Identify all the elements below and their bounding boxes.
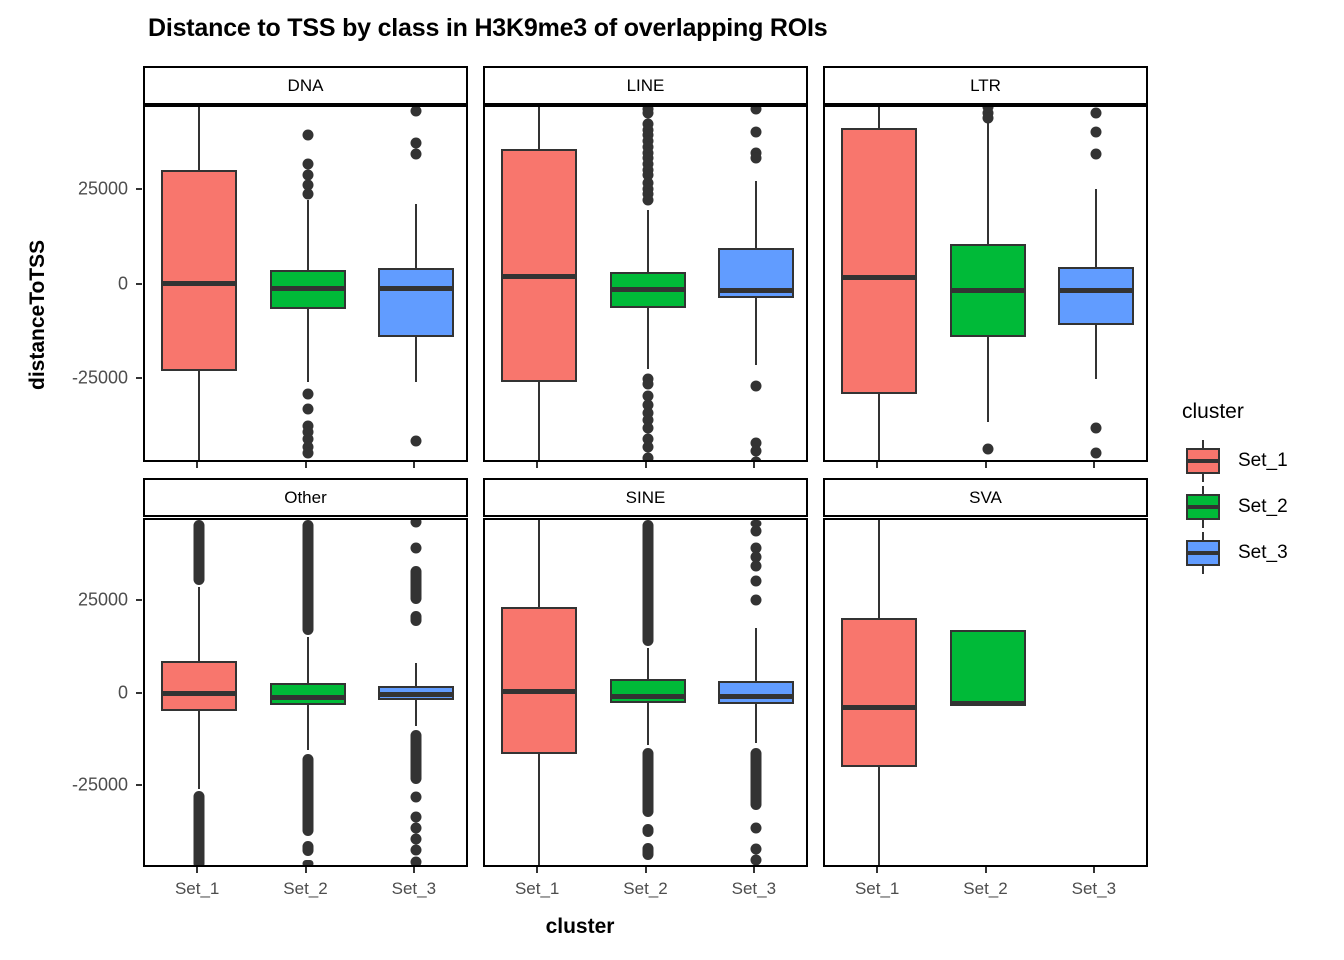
x-axis-tick-label: Set_1 (515, 879, 559, 899)
boxplot-box (161, 661, 237, 711)
x-axis-tick-mark (876, 867, 878, 873)
outlier-point (410, 834, 421, 845)
median-line (1058, 288, 1134, 293)
y-axis-tick-mark (136, 188, 142, 190)
whisker-upper (647, 210, 649, 272)
outlier-point (982, 443, 993, 454)
facet-strip-ltr: LTR (823, 66, 1148, 105)
outlier-cluster (642, 843, 653, 860)
y-axis-tick-label: -25000 (28, 775, 128, 796)
boxplot-box (718, 681, 794, 704)
whisker-upper (307, 200, 309, 270)
outlier-point (410, 845, 421, 856)
outlier-point (1090, 126, 1101, 137)
x-axis-tick-mark (753, 867, 755, 873)
y-axis-tick-label: 0 (28, 682, 128, 703)
legend: cluster Set_1Set_2Set_3 (1182, 400, 1288, 576)
whisker-lower (755, 704, 757, 743)
outlier-point (750, 576, 761, 587)
legend-rows: Set_1Set_2Set_3 (1182, 438, 1288, 576)
x-axis-tick-mark (753, 462, 755, 468)
median-line (841, 275, 917, 280)
outlier-cluster (302, 841, 313, 856)
x-axis-tick-mark (536, 867, 538, 873)
y-axis-tick-label: 25000 (28, 178, 128, 199)
y-axis-tick-mark (136, 784, 142, 786)
x-axis-tick-mark (305, 867, 307, 873)
outlier-point (1090, 107, 1101, 118)
outlier-point (410, 149, 421, 160)
x-axis-tick-mark (985, 867, 987, 873)
boxplot-box (610, 679, 686, 703)
outlier-cluster (410, 611, 421, 626)
facet-strip-label: SINE (626, 488, 666, 508)
median-line (270, 695, 346, 700)
x-axis-title: cluster (0, 915, 1160, 939)
outlier-point (1090, 422, 1101, 433)
y-axis-tick-label: 25000 (28, 589, 128, 610)
whisker-upper (538, 520, 540, 607)
median-line (950, 288, 1026, 293)
legend-key-median (1186, 505, 1220, 509)
x-axis-tick-mark (305, 462, 307, 468)
whisker-upper (198, 587, 200, 661)
outlier-point (302, 388, 313, 399)
facet-strip-dna: DNA (143, 66, 468, 105)
whisker-lower (415, 700, 417, 726)
outlier-point (750, 823, 761, 834)
median-line (270, 286, 346, 291)
outlier-point (750, 526, 761, 537)
boxplot-box (841, 128, 917, 394)
outlier-point (410, 542, 421, 553)
x-axis-tick-mark (196, 462, 198, 468)
outlier-point (1090, 447, 1101, 458)
boxplot-box (501, 607, 577, 754)
outlier-point (410, 436, 421, 447)
outlier-point (302, 189, 313, 200)
legend-item-set_2[interactable]: Set_2 (1182, 484, 1288, 530)
legend-key-swatch (1182, 438, 1224, 484)
whisker-lower (755, 298, 757, 365)
whisker-lower (647, 308, 649, 370)
whisker-upper (1095, 189, 1097, 268)
x-axis-tick-mark (1093, 867, 1095, 873)
outlier-point (642, 107, 653, 118)
facet-panel-sine (483, 518, 808, 867)
median-line (161, 281, 237, 286)
outlier-point (750, 561, 761, 572)
facet-strip-label: SVA (969, 488, 1002, 508)
x-axis-tick-label: Set_2 (963, 879, 1007, 899)
y-axis-tick-label: -25000 (28, 368, 128, 389)
legend-item-set_3[interactable]: Set_3 (1182, 530, 1288, 576)
outlier-point (750, 854, 761, 865)
x-axis-tick-mark (645, 462, 647, 468)
boxplot-box (950, 630, 1026, 705)
facet-strip-line: LINE (483, 66, 808, 105)
x-axis-tick-label: Set_2 (283, 879, 327, 899)
x-axis-tick-mark (413, 462, 415, 468)
outlier-cluster (642, 520, 653, 646)
facet-strip-label: LINE (627, 76, 665, 96)
outlier-point (302, 130, 313, 141)
outlier-cluster (642, 824, 653, 837)
outlier-point (410, 823, 421, 834)
outlier-cluster (410, 730, 421, 784)
legend-key-median (1186, 459, 1220, 463)
outlier-point (410, 138, 421, 149)
median-line (378, 286, 454, 291)
y-axis-tick-label: 0 (28, 273, 128, 294)
whisker-lower (538, 382, 540, 462)
outlier-point (410, 791, 421, 802)
boxplot-box (378, 268, 454, 336)
median-line (378, 692, 454, 697)
y-axis-tick-mark (136, 599, 142, 601)
outlier-point (750, 105, 761, 114)
x-axis-tick-mark (876, 462, 878, 468)
x-axis-tick-mark (196, 867, 198, 873)
boxplot-box (841, 618, 917, 767)
whisker-upper (647, 648, 649, 679)
x-axis-tick-mark (985, 462, 987, 468)
whisker-lower (878, 394, 880, 462)
whisker-upper (415, 204, 417, 269)
median-line (718, 694, 794, 699)
facet-strip-label: Other (284, 488, 327, 508)
median-line (501, 689, 577, 694)
outlier-point (302, 403, 313, 414)
x-axis-tick-mark (413, 867, 415, 873)
whisker-upper (878, 520, 880, 618)
median-line (950, 701, 1026, 706)
median-line (841, 705, 917, 710)
outlier-point (410, 856, 421, 867)
facet-strip-label: DNA (288, 76, 324, 96)
whisker-upper (538, 107, 540, 149)
legend-key-median (1186, 551, 1220, 555)
median-line (501, 274, 577, 279)
median-line (610, 287, 686, 292)
whisker-lower (198, 371, 200, 462)
boxplot-box (1058, 267, 1134, 325)
facet-panel-line (483, 105, 808, 462)
x-axis-tick-label: Set_1 (855, 879, 899, 899)
outlier-point (642, 195, 653, 206)
x-axis-tick-label: Set_1 (175, 879, 219, 899)
median-line (610, 694, 686, 699)
outlier-point (410, 105, 421, 116)
outlier-point (750, 153, 761, 164)
x-axis-tick-mark (645, 867, 647, 873)
median-line (161, 691, 237, 696)
outlier-cluster (410, 566, 421, 603)
outlier-point (642, 441, 653, 452)
median-line (718, 288, 794, 293)
facet-strip-other: Other (143, 478, 468, 517)
outlier-cluster (302, 860, 313, 867)
legend-item-set_1[interactable]: Set_1 (1182, 438, 1288, 484)
outlier-cluster (642, 748, 653, 817)
y-axis-tick-mark (136, 692, 142, 694)
whisker-lower (987, 337, 989, 422)
outlier-point (982, 113, 993, 124)
x-axis-tick-label: Set_3 (1072, 879, 1116, 899)
y-axis-tick-mark (136, 283, 142, 285)
facet-panel-dna (143, 105, 468, 462)
boxplot-box (501, 149, 577, 383)
outlier-point (642, 422, 653, 433)
outlier-point (1090, 149, 1101, 160)
outlier-point (750, 457, 761, 462)
whisker-lower (198, 711, 200, 789)
whisker-lower (647, 703, 649, 745)
facet-strip-sine: SINE (483, 478, 808, 517)
outlier-point (750, 445, 761, 456)
outlier-point (750, 381, 761, 392)
whisker-lower (1095, 325, 1097, 378)
outlier-cluster (302, 754, 313, 836)
whisker-upper (755, 628, 757, 681)
x-axis-tick-label: Set_3 (732, 879, 776, 899)
whisker-upper (198, 107, 200, 170)
whisker-lower (415, 337, 417, 383)
x-axis-tick-mark (1093, 462, 1095, 468)
boxplot-box (161, 170, 237, 371)
facet-strip-sva: SVA (823, 478, 1148, 517)
legend-label: Set_2 (1238, 496, 1288, 518)
outlier-cluster (194, 520, 205, 585)
whisker-upper (755, 181, 757, 248)
outlier-point (750, 843, 761, 854)
whisker-upper (878, 107, 880, 128)
chart-root: Distance to TSS by class in H3K9me3 of o… (0, 0, 1344, 960)
outlier-cluster (302, 520, 313, 635)
legend-label: Set_1 (1238, 450, 1288, 472)
facet-panel-ltr (823, 105, 1148, 462)
page-title: Distance to TSS by class in H3K9me3 of o… (148, 14, 827, 43)
whisker-upper (987, 116, 989, 244)
y-axis-tick-mark (136, 377, 142, 379)
whisker-upper (415, 663, 417, 686)
outlier-point (302, 158, 313, 169)
outlier-point (750, 594, 761, 605)
outlier-point (750, 126, 761, 137)
outlier-cluster (750, 748, 761, 809)
whisker-lower (307, 309, 309, 382)
legend-key-swatch (1182, 484, 1224, 530)
x-axis-tick-label: Set_2 (623, 879, 667, 899)
whisker-lower (307, 705, 309, 750)
facet-panel-other (143, 518, 468, 867)
x-axis-tick-mark (536, 462, 538, 468)
facet-strip-label: LTR (970, 76, 1001, 96)
outlier-cluster (194, 791, 205, 867)
outlier-point (410, 518, 421, 527)
outlier-point (302, 447, 313, 458)
legend-label: Set_3 (1238, 542, 1288, 564)
whisker-upper (307, 637, 309, 683)
outlier-point (642, 379, 653, 390)
outlier-point (642, 457, 653, 462)
whisker-lower (538, 754, 540, 867)
legend-key-swatch (1182, 530, 1224, 576)
x-axis-tick-label: Set_3 (392, 879, 436, 899)
facet-panel-sva (823, 518, 1148, 867)
whisker-lower (878, 767, 880, 867)
legend-title: cluster (1182, 400, 1288, 424)
outlier-point (410, 812, 421, 823)
